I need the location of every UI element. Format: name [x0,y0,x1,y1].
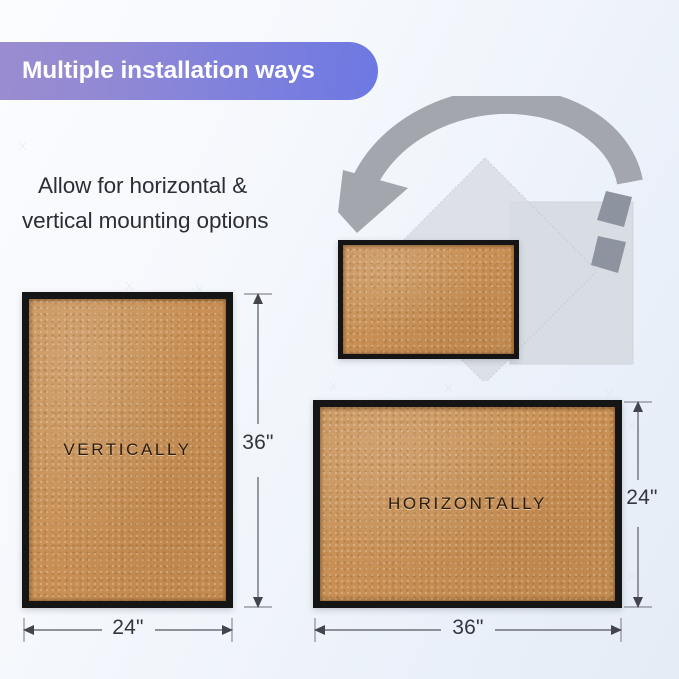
dimension-vertical-24: 24" [622,400,662,609]
cork-board-rotating [338,240,519,359]
dimension-label-36-vertical: 36" [238,431,278,455]
header-banner: Multiple installation ways [0,42,378,100]
subtitle-text: Allow for horizontal & vertical mounting… [22,168,352,238]
board-label-horizontal: HORIZONTALLY [388,494,547,514]
infographic-canvas: Multiple installation ways Allow for hor… [0,0,679,679]
dimension-label-24-vertical: 24" [622,486,662,510]
cork-board-vertical: VERTICALLY [22,292,233,608]
page-title: Multiple installation ways [0,57,315,85]
board-label-vertical: VERTICALLY [63,440,191,460]
cork-surface: VERTICALLY [29,299,226,601]
dimension-horizontal-36: 36" [313,612,623,644]
dimension-vertical-36: 36" [238,292,278,609]
rotation-illustration [330,96,675,381]
cork-surface: HORIZONTALLY [320,407,615,601]
subtitle-line-1: Allow for horizontal & [22,168,352,203]
cork-board-horizontal: HORIZONTALLY [313,400,622,608]
dimension-label-24-horizontal: 24" [22,616,234,640]
dimension-horizontal-24: 24" [22,612,234,644]
cork-surface [343,245,514,354]
subtitle-line-2: vertical mounting options [22,203,352,238]
dimension-label-36-horizontal: 36" [313,616,623,640]
